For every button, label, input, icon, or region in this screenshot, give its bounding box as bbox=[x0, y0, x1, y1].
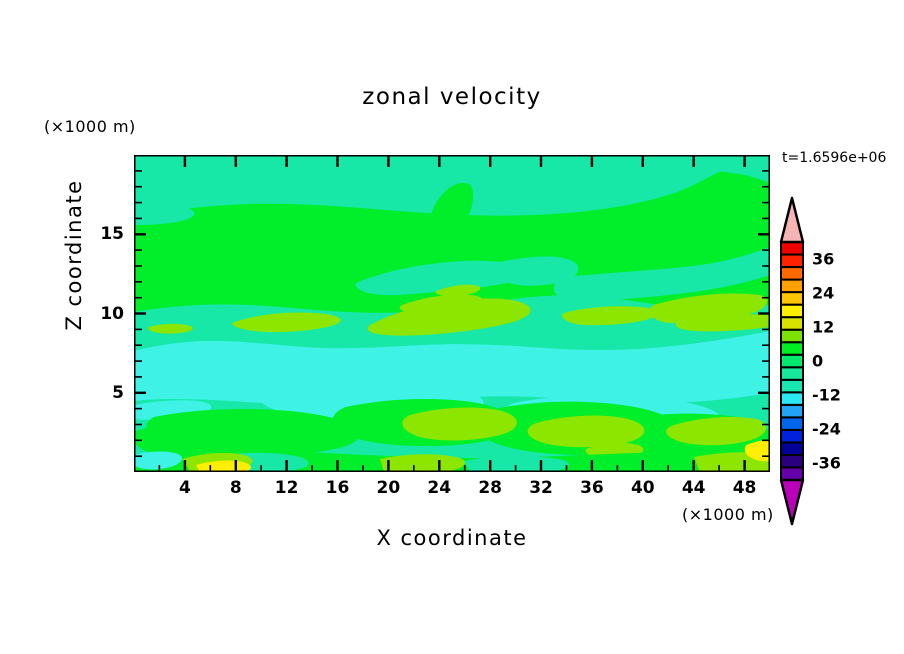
colorbar-swatch bbox=[781, 330, 803, 343]
y-axis-unit-label: (×1000 m) bbox=[44, 117, 136, 136]
contour-field bbox=[134, 155, 770, 472]
colorbar-swatch bbox=[781, 417, 803, 430]
x-axis-title: X coordinate bbox=[134, 526, 770, 550]
contour-plot bbox=[134, 155, 770, 472]
colorbar-swatch bbox=[781, 367, 803, 380]
colorbar-swatch bbox=[781, 442, 803, 455]
y-tick-label: 10 bbox=[92, 304, 124, 324]
y-axis-title: Z coordinate bbox=[62, 160, 86, 350]
x-tick-label: 40 bbox=[631, 478, 655, 498]
colorbar-tick-label: 36 bbox=[812, 250, 834, 269]
x-tick-label: 32 bbox=[529, 478, 553, 498]
colorbar-tick-label: 24 bbox=[812, 284, 834, 303]
y-tick-label: 5 bbox=[92, 383, 124, 403]
colorbar-tick-label: -24 bbox=[812, 420, 841, 439]
x-tick-label: 36 bbox=[580, 478, 604, 498]
y-tick-label: 15 bbox=[92, 224, 124, 244]
colorbar-swatch bbox=[781, 467, 803, 480]
figure-canvas: zonal velocity (×1000 m) (×1000 m) X coo… bbox=[0, 0, 904, 654]
page-title: zonal velocity bbox=[0, 84, 904, 110]
time-annotation: t=1.6596e+06 bbox=[782, 150, 886, 166]
x-tick-label: 16 bbox=[326, 478, 350, 498]
colorbar-tick-label: -36 bbox=[812, 454, 841, 473]
x-tick-label: 48 bbox=[733, 478, 757, 498]
colorbar-swatch bbox=[781, 392, 803, 405]
colorbar-tick-label: -12 bbox=[812, 386, 841, 405]
colorbar-tick-label: 12 bbox=[812, 318, 834, 337]
colorbar-swatch bbox=[781, 455, 803, 468]
colorbar-swatch bbox=[781, 317, 803, 330]
colorbar[interactable] bbox=[778, 196, 808, 526]
colorbar-swatch bbox=[781, 355, 803, 368]
colorbar-swatch bbox=[781, 292, 803, 305]
x-tick-label: 8 bbox=[230, 478, 242, 498]
x-tick-label: 28 bbox=[478, 478, 502, 498]
colorbar-swatch bbox=[781, 405, 803, 418]
x-tick-label: 12 bbox=[275, 478, 299, 498]
x-tick-label: 4 bbox=[179, 478, 191, 498]
colorbar-swatch bbox=[781, 280, 803, 293]
colorbar-under-arrow bbox=[781, 480, 803, 524]
colorbar-swatch bbox=[781, 267, 803, 280]
colorbar-swatch bbox=[781, 430, 803, 443]
colorbar-swatch bbox=[781, 255, 803, 268]
x-tick-label: 44 bbox=[682, 478, 706, 498]
colorbar-tick-label: 0 bbox=[812, 352, 823, 371]
colorbar-over-arrow bbox=[781, 198, 803, 242]
x-tick-label: 20 bbox=[377, 478, 401, 498]
colorbar-swatch bbox=[781, 342, 803, 355]
x-tick-label: 24 bbox=[427, 478, 451, 498]
colorbar-swatch bbox=[781, 380, 803, 393]
colorbar-swatch bbox=[781, 242, 803, 255]
colorbar-swatches bbox=[781, 242, 803, 480]
colorbar-swatch bbox=[781, 305, 803, 318]
x-axis-unit-label: (×1000 m) bbox=[682, 505, 774, 524]
